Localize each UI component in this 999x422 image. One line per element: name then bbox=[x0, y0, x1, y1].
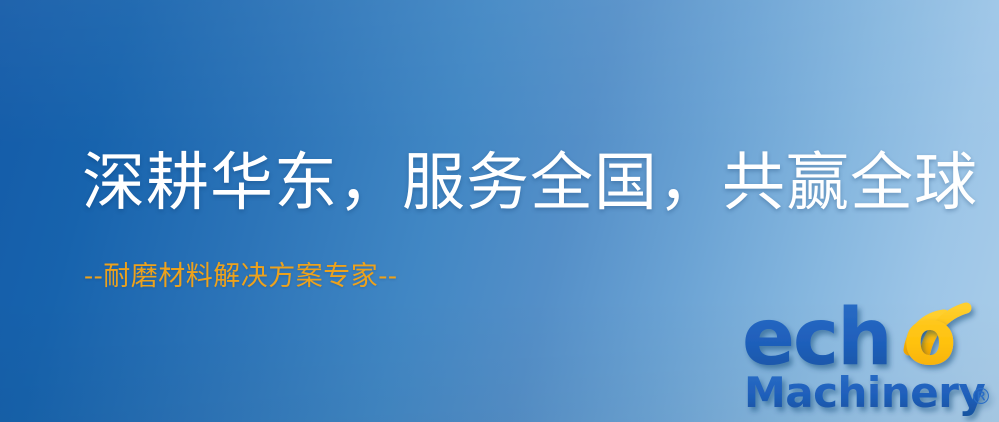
logo-trademark-symbol: ® bbox=[970, 385, 992, 410]
hero-banner: 深耕华东，服务全国，共赢全球 --耐磨材料解决方案专家-- bbox=[0, 0, 999, 422]
logo-tagline: Machinery bbox=[744, 368, 985, 417]
echo-machinery-logo[interactable]: ech o Machinery ® bbox=[742, 294, 999, 422]
banner-headline: 深耕华东，服务全国，共赢全球 bbox=[82, 151, 978, 214]
banner-subheadline: --耐磨材料解决方案专家-- bbox=[84, 263, 398, 290]
